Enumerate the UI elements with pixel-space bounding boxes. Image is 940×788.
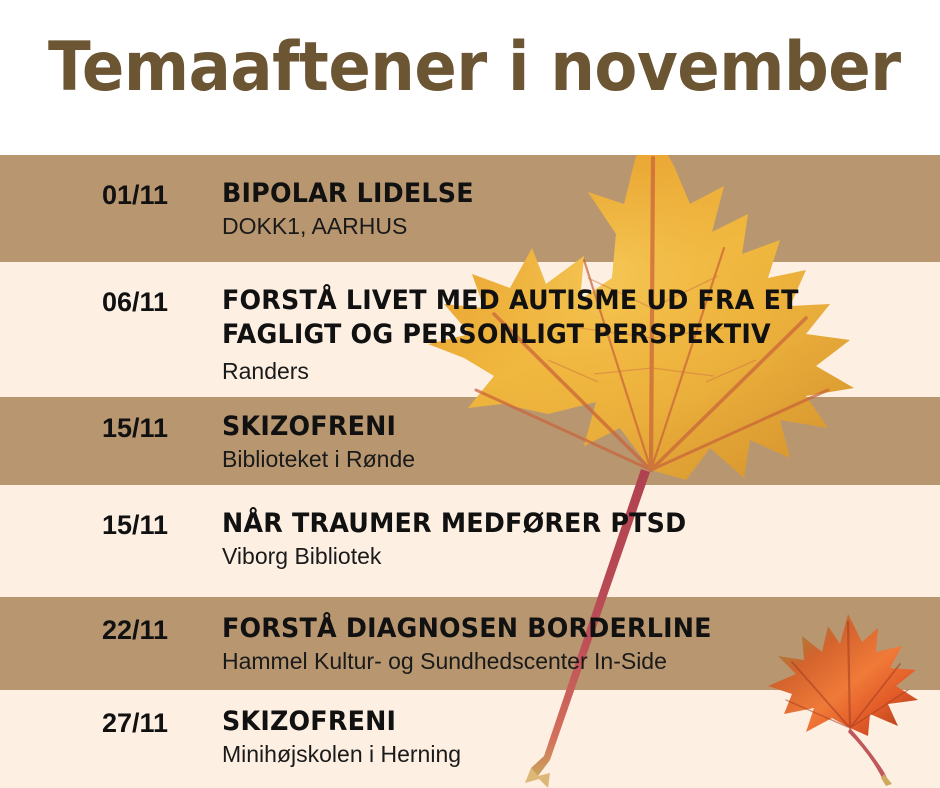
table-row: 15/11 SKIZOFRENI Biblioteket i Rønde <box>0 397 940 485</box>
event-title: BIPOLAR LIDELSE <box>222 177 888 211</box>
event-venue: Randers <box>222 356 930 386</box>
table-row: 01/11 BIPOLAR LIDELSE DOKK1, AARHUS <box>0 155 940 262</box>
event-body: SKIZOFRENI Biblioteket i Rønde <box>222 410 930 474</box>
event-venue: DOKK1, AARHUS <box>222 211 930 241</box>
event-date: 01/11 <box>60 180 210 210</box>
event-title: NÅR TRAUMER MEDFØRER PTSD <box>222 507 888 541</box>
event-venue: Hammel Kultur- og Sundhedscenter In-Side <box>222 646 930 676</box>
event-venue: Viborg Bibliotek <box>222 541 930 571</box>
event-title: FORSTÅ DIAGNOSEN BORDERLINE <box>222 612 888 646</box>
event-date: 15/11 <box>60 413 210 443</box>
table-row: 06/11 FORSTÅ LIVET MED AUTISME UD FRA ET… <box>0 262 940 397</box>
event-title: SKIZOFRENI <box>222 705 888 739</box>
table-row: 27/11 SKIZOFRENI Minihøjskolen i Herning <box>0 690 940 788</box>
table-row: 22/11 FORSTÅ DIAGNOSEN BORDERLINE Hammel… <box>0 597 940 690</box>
event-title-line2: FAGLIGT OG PERSONLIGT PERSPEKTIV <box>222 318 888 352</box>
event-title: SKIZOFRENI <box>222 410 888 444</box>
poster-header: Temaaftener i november <box>0 0 940 155</box>
event-date: 27/11 <box>60 708 210 738</box>
event-venue: Biblioteket i Rønde <box>222 444 930 474</box>
event-body: SKIZOFRENI Minihøjskolen i Herning <box>222 705 930 769</box>
event-body: BIPOLAR LIDELSE DOKK1, AARHUS <box>222 177 930 241</box>
poster-root: Temaaftener i november <box>0 0 940 788</box>
event-body: FORSTÅ DIAGNOSEN BORDERLINE Hammel Kultu… <box>222 612 930 676</box>
event-body: FORSTÅ LIVET MED AUTISME UD FRA ET FAGLI… <box>222 284 930 386</box>
page-title: Temaaftener i november <box>48 26 901 110</box>
event-title: FORSTÅ LIVET MED AUTISME UD FRA ET <box>222 284 888 318</box>
event-body: NÅR TRAUMER MEDFØRER PTSD Viborg Bibliot… <box>222 507 930 571</box>
event-venue: Minihøjskolen i Herning <box>222 739 930 769</box>
event-date: 22/11 <box>60 615 210 645</box>
event-date: 06/11 <box>60 287 210 317</box>
schedule-rows: 01/11 BIPOLAR LIDELSE DOKK1, AARHUS 06/1… <box>0 155 940 788</box>
event-date: 15/11 <box>60 510 210 540</box>
table-row: 15/11 NÅR TRAUMER MEDFØRER PTSD Viborg B… <box>0 485 940 597</box>
